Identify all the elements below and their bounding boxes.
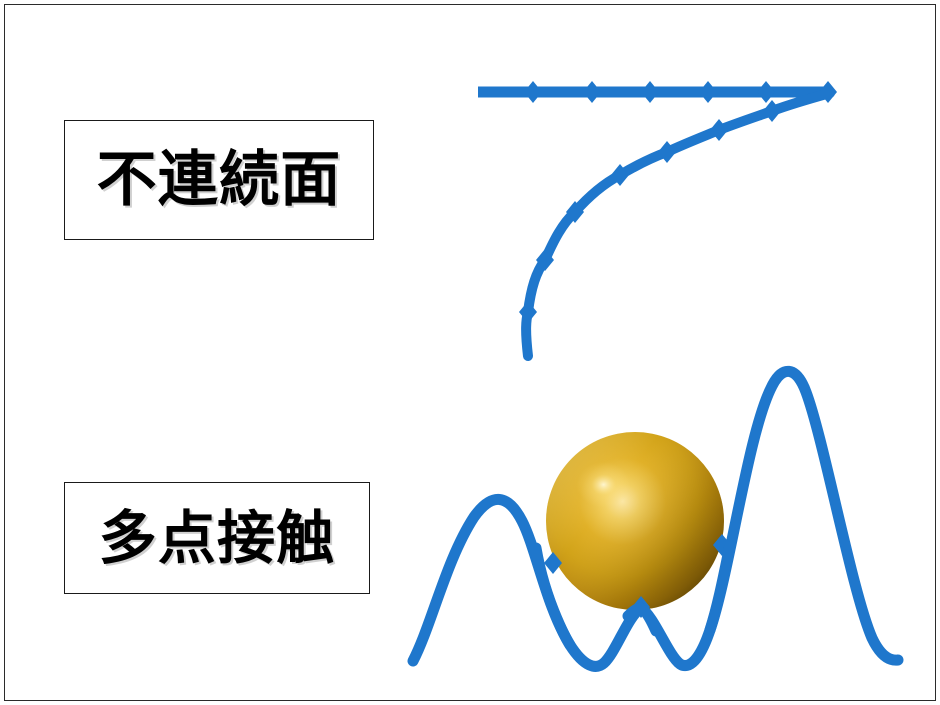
label-text-multipoint-contact: 多点接触 bbox=[99, 509, 336, 567]
diamond-marker bbox=[583, 81, 601, 103]
diagram-graphics bbox=[0, 0, 940, 705]
multipoint-contact-diagram bbox=[413, 371, 898, 666]
gold-sphere bbox=[546, 432, 724, 610]
diamond-marker bbox=[699, 81, 717, 103]
label-box-multipoint-contact: 多点接触 bbox=[64, 482, 370, 594]
bending-curve-markers bbox=[519, 100, 781, 323]
slide-canvas: 不連続面 多点接触 bbox=[0, 0, 940, 705]
bending-curve-path bbox=[526, 93, 830, 356]
diamond-marker bbox=[641, 81, 659, 103]
diamond-marker bbox=[763, 100, 781, 122]
discontinuous-surface-diagram bbox=[478, 81, 837, 356]
diamond-marker bbox=[519, 301, 537, 323]
diamond-marker bbox=[524, 81, 542, 103]
diamond-marker bbox=[757, 81, 775, 103]
label-box-discontinuous-surface: 不連続面 bbox=[64, 120, 374, 240]
label-text-discontinuous-surface: 不連続面 bbox=[97, 150, 342, 210]
